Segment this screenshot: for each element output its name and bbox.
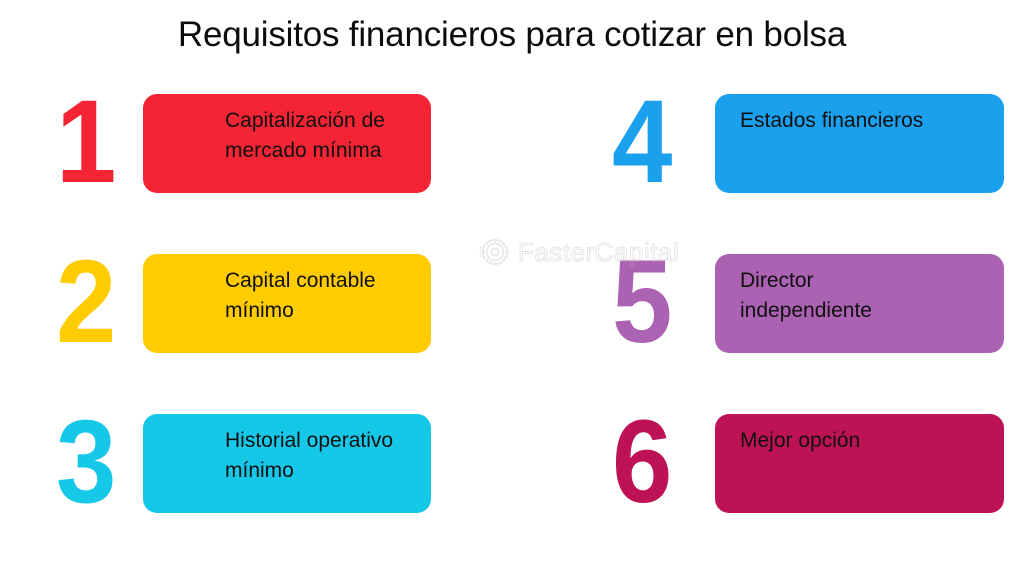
- card-label-4: Estados financieros: [740, 106, 994, 136]
- card-number-2: 2: [56, 244, 115, 360]
- card-label-1: Capitalización de mercado mínima: [225, 106, 422, 166]
- card-item-5[interactable]: 5 Director independiente: [612, 248, 1008, 356]
- card-label-5: Director independiente: [740, 266, 994, 326]
- page-title: Requisitos financieros para cotizar en b…: [0, 14, 1024, 56]
- card-number-1: 1: [56, 84, 115, 200]
- card-item-2[interactable]: 2 Capital contable mínimo: [56, 248, 436, 356]
- card-number-5: 5: [612, 244, 671, 360]
- card-number-6: 6: [612, 404, 671, 520]
- card-label-3: Historial operativo mínimo: [225, 426, 422, 486]
- gear-icon: [478, 235, 512, 269]
- card-number-3: 3: [56, 404, 115, 520]
- card-item-3[interactable]: 3 Historial operativo mínimo: [56, 408, 436, 516]
- card-number-4: 4: [612, 84, 671, 200]
- card-item-1[interactable]: 1 Capitalización de mercado mínima: [56, 88, 436, 196]
- card-item-6[interactable]: 6 Mejor opción: [612, 408, 1008, 516]
- card-label-6: Mejor opción: [740, 426, 994, 456]
- card-label-2: Capital contable mínimo: [225, 266, 422, 326]
- card-item-4[interactable]: 4 Estados financieros: [612, 88, 1008, 196]
